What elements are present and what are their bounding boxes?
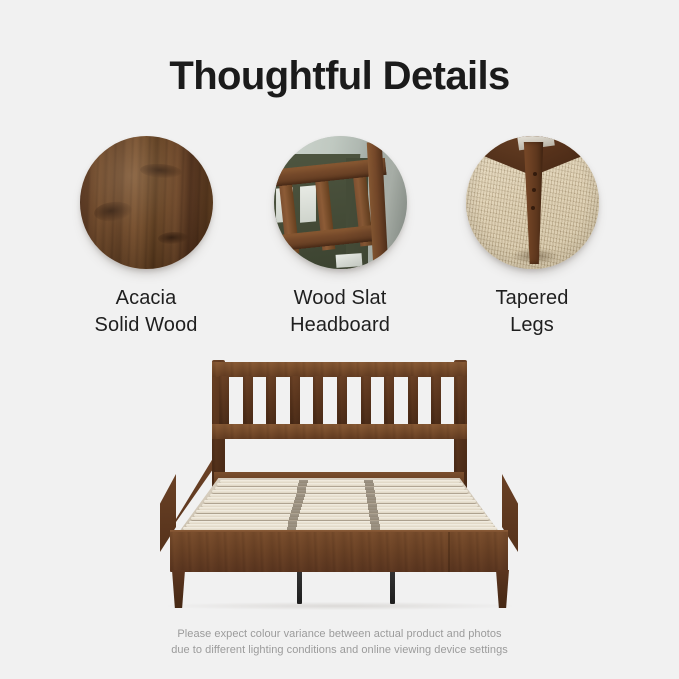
feature-label-1-line1: Acacia [51,285,241,312]
feature-label-2: Wood Slat Headboard [245,285,435,338]
feature-label-3-line1: Tapered [437,285,627,312]
feature-image-wrap-3 [466,136,599,269]
feature-label-1: Acacia Solid Wood [51,285,241,338]
headboard-vertical-slat [313,376,323,425]
feature-acacia-solid-wood: Acacia Solid Wood [51,136,241,338]
feature-label-2-line1: Wood Slat [245,285,435,312]
feature-label-2-line2: Headboard [245,312,435,339]
bed-front-rail [170,532,508,572]
tapered-leg-on-carpet-closeup-image [466,136,599,269]
headboard-scene [274,136,407,269]
headboard-top-rail [212,362,467,377]
headboard-vertical-slat [337,376,347,425]
headboard-vertical-slat [431,376,441,425]
tapered-leg-scene [466,136,599,269]
feature-label-3: Tapered Legs [437,285,627,338]
wood-slat-headboard-closeup-image [274,136,407,269]
page-title: Thoughtful Details [0,54,679,99]
feature-label-1-line2: Solid Wood [51,312,241,339]
walnut-platform-bed-frame-image [0,352,679,602]
acacia-wood-grain-swatch-image [80,136,213,269]
center-support-leg [297,572,302,604]
disclaimer-line2: due to different lighting conditions and… [0,643,679,659]
colour-variance-disclaimer: Please expect colour variance between ac… [0,627,679,659]
deck-slat [217,483,462,486]
headboard-vertical-slat [455,376,465,425]
deck-slat [196,510,483,513]
deck-slat [204,500,476,503]
infographic-page: Thoughtful Details Acacia Solid Wood [0,0,679,679]
deck-slat [212,490,468,493]
feature-image-wrap-2 [274,136,407,269]
photo-vignette-overlay [466,136,599,269]
headboard-vertical-slat [219,376,229,425]
photo-shading-overlay [274,136,407,269]
feature-tapered-legs: Tapered Legs [437,136,627,338]
front-rail-seam [448,532,450,572]
bed-floor-shadow [168,602,512,610]
feature-image-wrap-1 [80,136,213,269]
headboard-vertical-slat [384,376,394,425]
deck-slat [191,517,489,520]
headboard-vertical-slat [361,376,371,425]
center-support-leg [390,572,395,604]
feature-wood-slat-headboard: Wood Slat Headboard [245,136,435,338]
feature-highlights-row: Acacia Solid Wood [0,136,679,351]
headboard-vertical-slat [408,376,418,425]
disclaimer-line1: Please expect colour variance between ac… [0,627,679,643]
headboard-bottom-rail [212,424,467,439]
headboard-vertical-slat [243,376,253,425]
headboard-vertical-slat [290,376,300,425]
wood-sheen-overlay [80,136,213,269]
headboard-vertical-slat [266,376,276,425]
feature-label-3-line2: Legs [437,312,627,339]
